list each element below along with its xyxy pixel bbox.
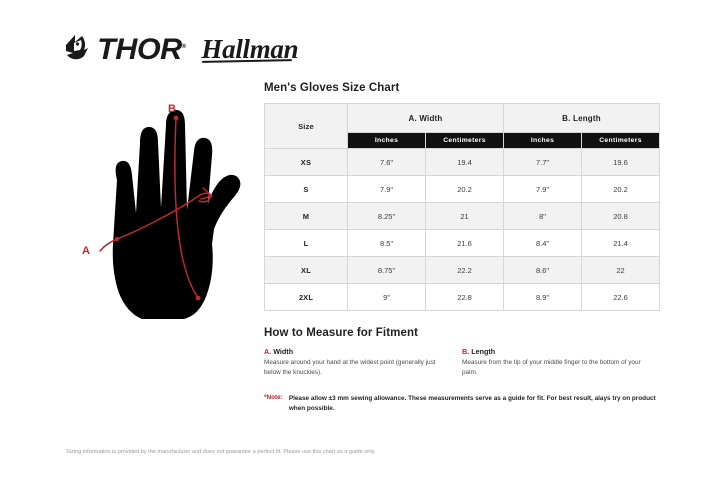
cell-length-centimeters: 22	[582, 257, 660, 284]
cell-length-centimeters: 22.6	[582, 284, 660, 311]
cell-length-inches: 8.4"	[504, 230, 582, 257]
thor-trademark-symbol: ®	[182, 44, 187, 50]
footer-disclaimer: Sizing information is provided by the ma…	[66, 448, 406, 458]
how-to-width-heading: A. Width	[264, 347, 446, 356]
sewing-allowance-note: *Note: Please allow ±3 mm sewing allowan…	[264, 394, 660, 415]
table-body: XS 7.6" 19.4 7.7" 19.6 S 7.9" 20.2 7.9" …	[265, 149, 660, 311]
cell-width-centimeters: 22.8	[426, 284, 504, 311]
column-header-width-inches: Inches	[348, 133, 426, 149]
how-to-measure-section: How to Measure for Fitment A. Width Meas…	[264, 327, 660, 414]
table-row: XS 7.6" 19.4 7.7" 19.6	[265, 149, 660, 176]
cell-length-inches: 8"	[504, 203, 582, 230]
how-to-measure-title: How to Measure for Fitment	[264, 327, 660, 339]
hand-measurement-illustration: B A	[62, 96, 262, 328]
column-header-width-centimeters: Centimeters	[426, 133, 504, 149]
how-to-length-letter: B.	[462, 347, 469, 356]
column-header-length-inches: Inches	[504, 133, 582, 149]
cell-size: XL	[265, 257, 348, 284]
cell-width-centimeters: 19.4	[426, 149, 504, 176]
table-row: L 8.5" 21.6 8.4" 21.4	[265, 230, 660, 257]
chart-content-column: Men's Gloves Size Chart Size A. Width B.…	[264, 82, 660, 414]
cell-width-centimeters: 21.6	[426, 230, 504, 257]
column-header-group-length: B. Length	[504, 104, 660, 133]
how-to-width-body: Measure around your hand at the widest p…	[264, 358, 446, 378]
how-to-measure-columns: A. Width Measure around your hand at the…	[264, 347, 660, 378]
cell-width-inches: 8.75"	[348, 257, 426, 284]
thor-wordmark-text: THOR	[97, 33, 182, 66]
cell-size: 2XL	[265, 284, 348, 311]
measurement-label-a: A	[82, 245, 90, 257]
cell-length-centimeters: 20.2	[582, 176, 660, 203]
cell-size: M	[265, 203, 348, 230]
cell-width-centimeters: 21	[426, 203, 504, 230]
table-row: M 8.25" 21 8" 20.8	[265, 203, 660, 230]
cell-width-centimeters: 20.2	[426, 176, 504, 203]
how-to-length-heading: B. Length	[462, 347, 644, 356]
cell-size: L	[265, 230, 348, 257]
table-row: XL 8.75" 22.2 8.6" 22	[265, 257, 660, 284]
cell-width-inches: 8.25"	[348, 203, 426, 230]
cell-size: XS	[265, 149, 348, 176]
cell-length-centimeters: 20.8	[582, 203, 660, 230]
cell-length-inches: 8.6"	[504, 257, 582, 284]
note-label: *Note:	[264, 394, 283, 415]
thor-logo: THOR®	[62, 31, 185, 70]
cell-length-centimeters: 19.6	[582, 149, 660, 176]
cell-width-inches: 7.9"	[348, 176, 426, 203]
thor-wordmark: THOR®	[97, 35, 186, 65]
column-header-length-centimeters: Centimeters	[582, 133, 660, 149]
column-header-group-width: A. Width	[348, 104, 504, 133]
cell-length-inches: 7.7"	[504, 149, 582, 176]
page-title: Men's Gloves Size Chart	[264, 82, 660, 94]
table-row: S 7.9" 20.2 7.9" 20.2	[265, 176, 660, 203]
table-header-row-groups: Size A. Width B. Length	[265, 104, 660, 133]
how-to-measure-width-block: A. Width Measure around your hand at the…	[264, 347, 462, 378]
measurement-label-b: B	[168, 103, 176, 115]
table-row: 2XL 9" 22.8 8.9" 22.6	[265, 284, 660, 311]
how-to-measure-length-block: B. Length Measure from the tip of your m…	[462, 347, 660, 378]
cell-length-centimeters: 21.4	[582, 230, 660, 257]
table-header: Size A. Width B. Length Inches Centimete…	[265, 104, 660, 149]
how-to-width-letter: A.	[264, 347, 271, 356]
hallman-logo: Hallman	[201, 37, 298, 64]
cell-length-inches: 8.9"	[504, 284, 582, 311]
cell-width-centimeters: 22.2	[426, 257, 504, 284]
brand-logo-bar: THOR® Hallman	[62, 28, 298, 72]
how-to-width-name: Width	[273, 347, 293, 356]
cell-width-inches: 9"	[348, 284, 426, 311]
cell-size: S	[265, 176, 348, 203]
cell-length-inches: 7.9"	[504, 176, 582, 203]
column-header-size: Size	[265, 104, 348, 149]
thor-hammer-mark-icon	[62, 31, 96, 70]
how-to-length-body: Measure from the tip of your middle fing…	[462, 358, 644, 378]
size-chart-page: THOR® Hallman B	[0, 0, 720, 492]
how-to-length-name: Length	[471, 347, 495, 356]
cell-width-inches: 8.5"	[348, 230, 426, 257]
note-text: Please allow ±3 mm sewing allowance. The…	[289, 394, 660, 415]
size-chart-table: Size A. Width B. Length Inches Centimete…	[264, 103, 660, 311]
cell-width-inches: 7.6"	[348, 149, 426, 176]
